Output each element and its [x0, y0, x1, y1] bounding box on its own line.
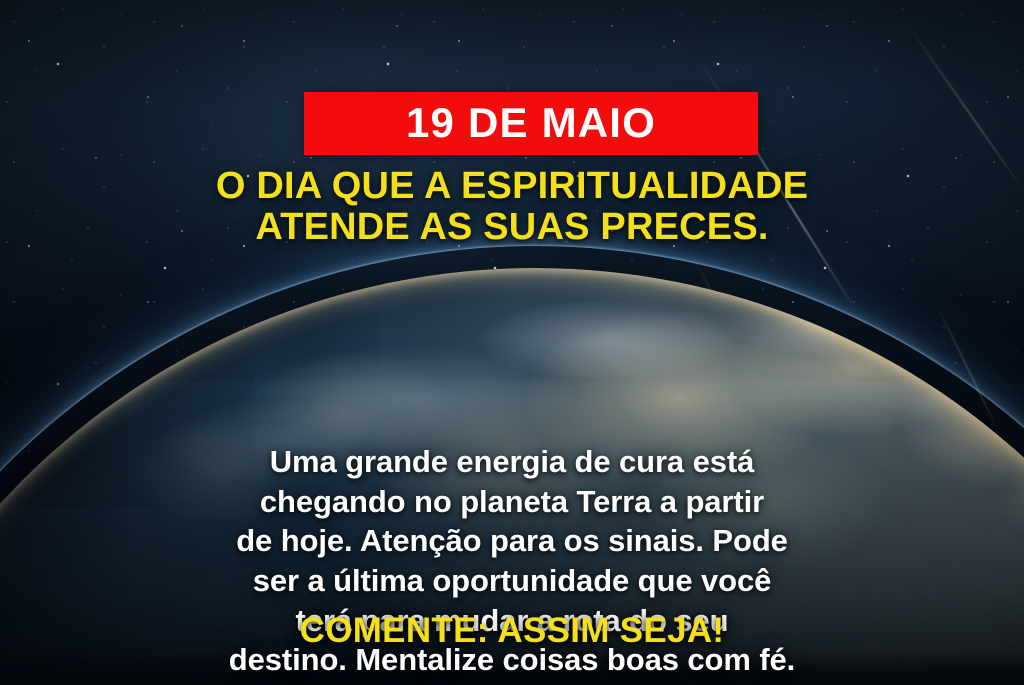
date-banner: 19 DE MAIO — [304, 92, 758, 155]
headline: O DIA QUE A ESPIRITUALIDADE ATENDE AS SU… — [0, 166, 1024, 248]
poster-content: 19 DE MAIO O DIA QUE A ESPIRITUALIDADE A… — [0, 0, 1024, 685]
body-line-1: Uma grande energia de cura está — [56, 442, 968, 482]
poster-canvas: 19 DE MAIO O DIA QUE A ESPIRITUALIDADE A… — [0, 0, 1024, 685]
body-line-2: chegando no planeta Terra a partir — [56, 482, 968, 522]
body-line-3: de hoje. Atenção para os sinais. Pode — [56, 521, 968, 561]
body-line-4: ser a última oportunidade que você — [56, 561, 968, 601]
date-banner-label: 19 DE MAIO — [406, 102, 656, 144]
headline-line-1: O DIA QUE A ESPIRITUALIDADE — [40, 166, 984, 207]
call-to-action: COMENTE: ASSIM SEJA! — [0, 613, 1024, 650]
headline-line-2: ATENDE AS SUAS PRECES. — [40, 207, 984, 248]
